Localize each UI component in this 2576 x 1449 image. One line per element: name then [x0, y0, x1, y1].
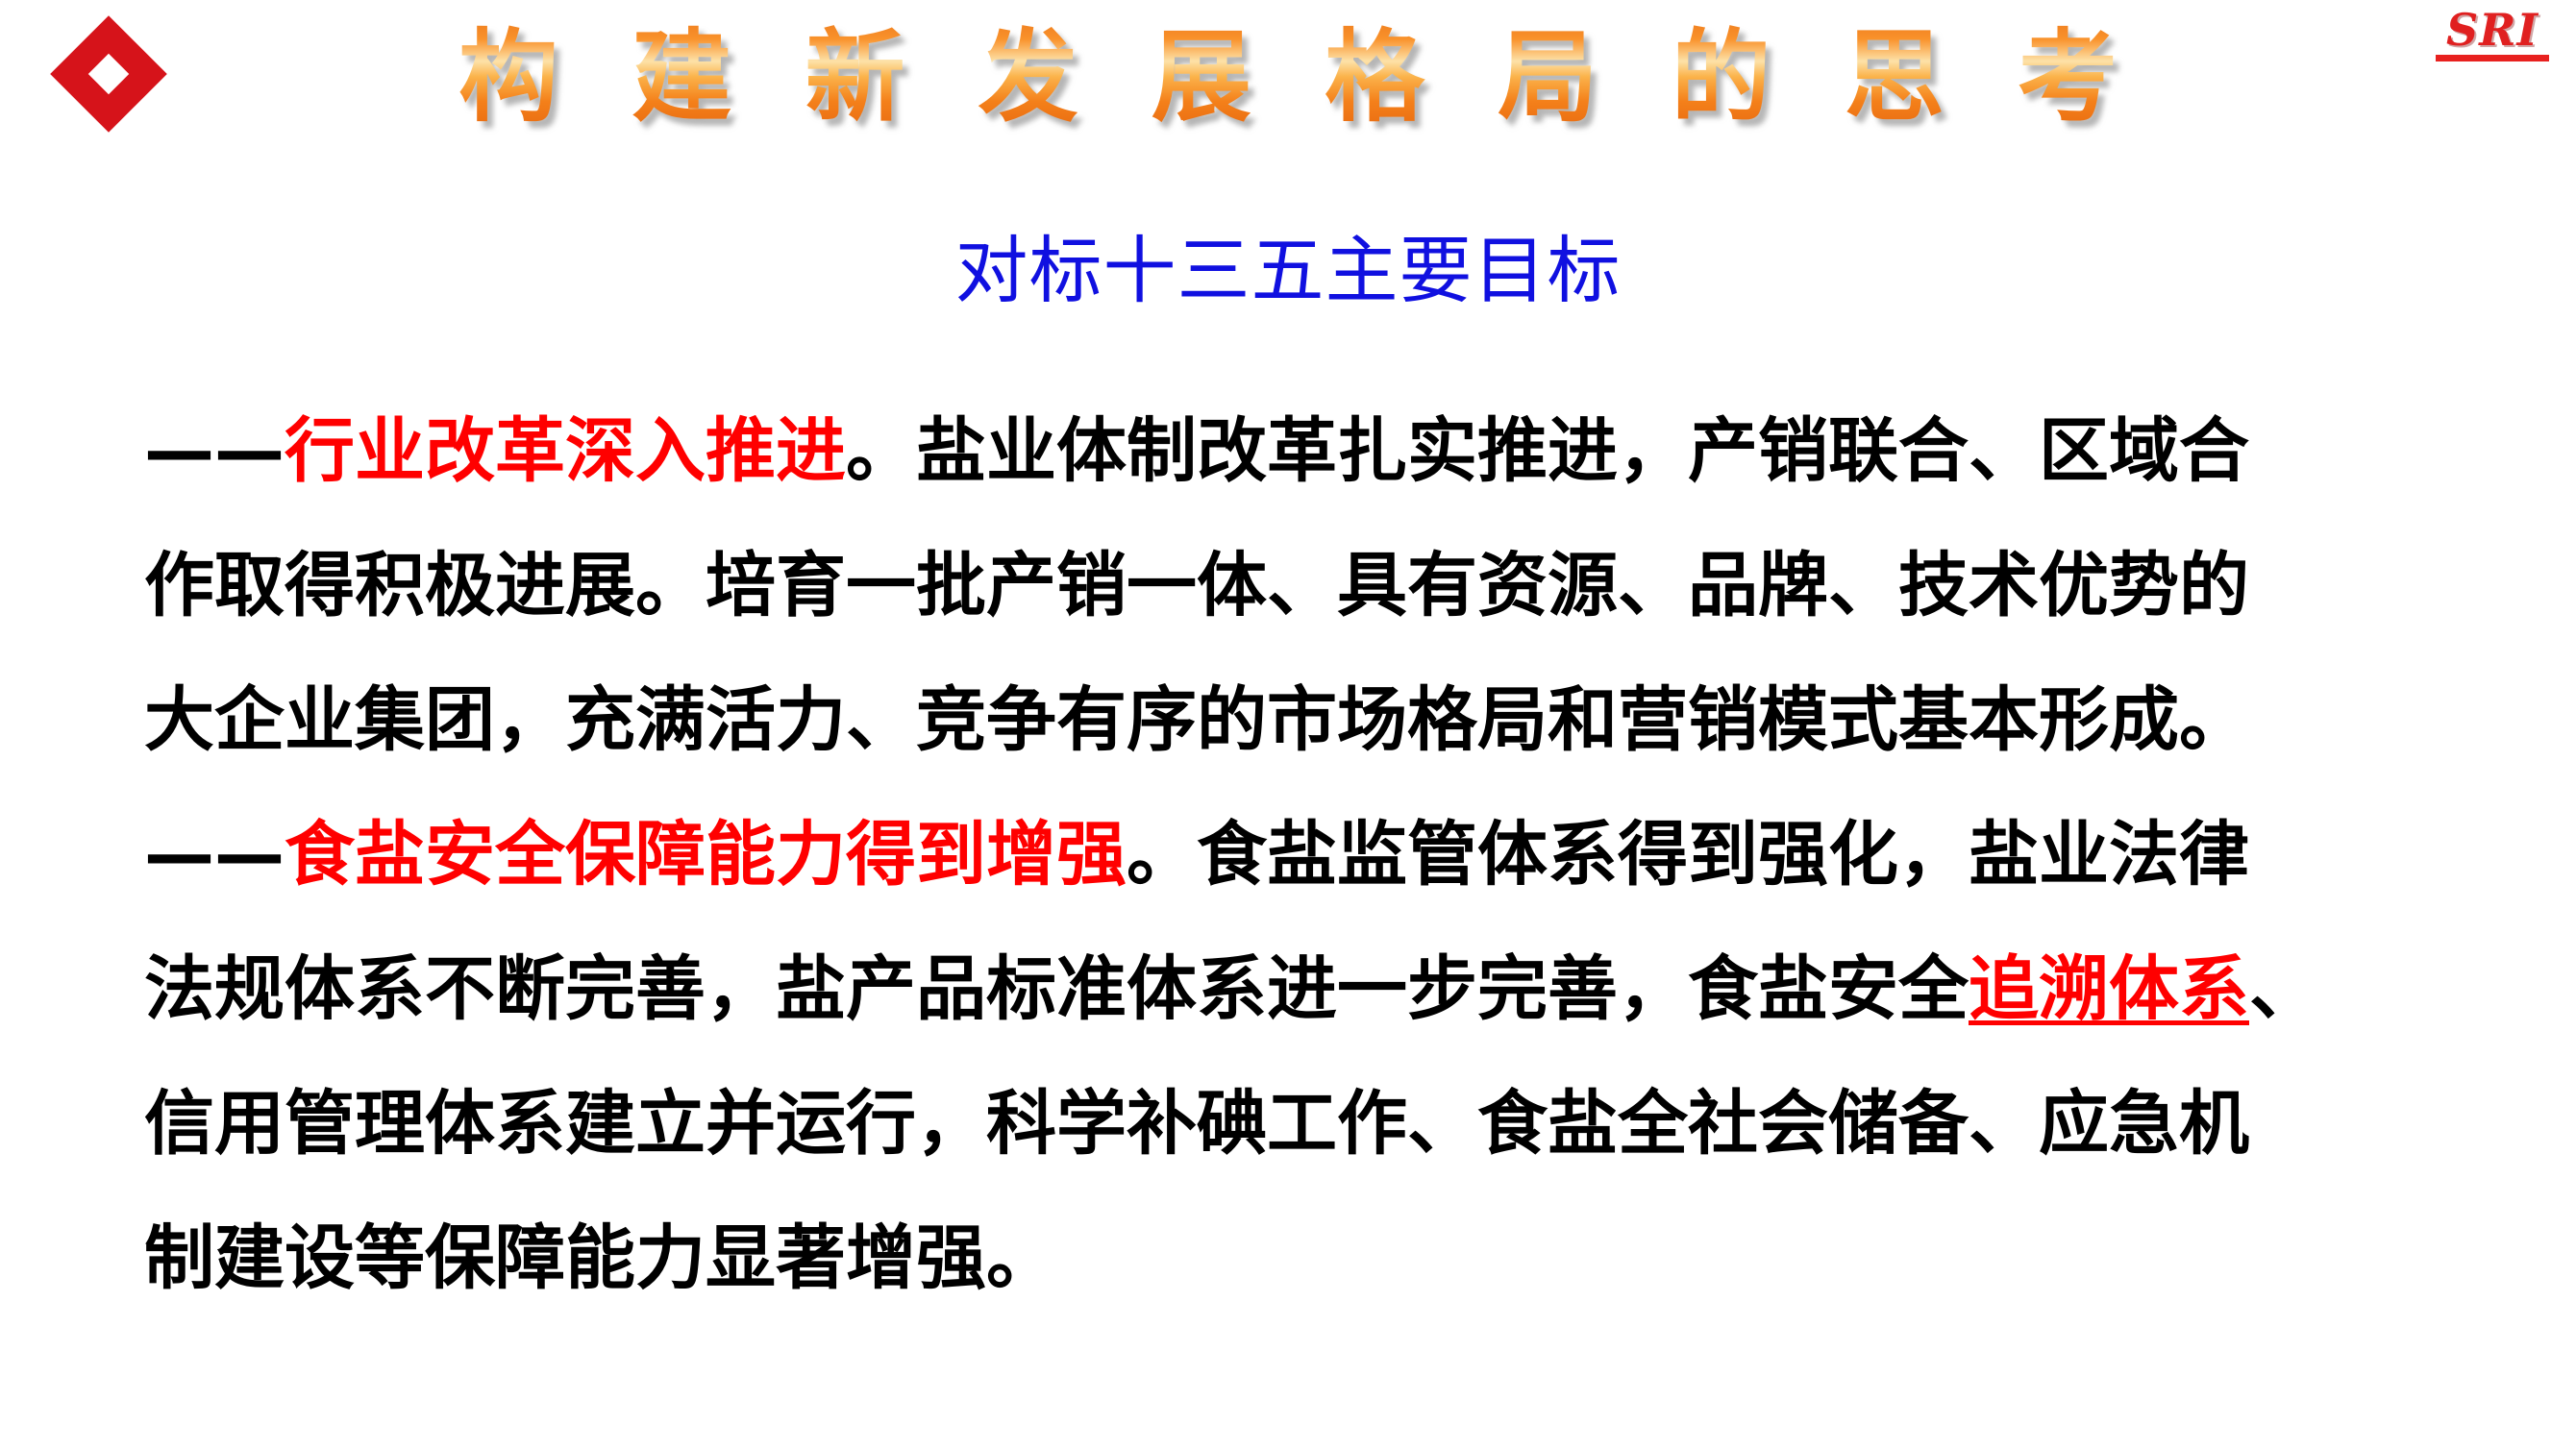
body-text: 信用管理体系建立并运行，科学补碘工作、食盐全社会储备、应急机 — [144, 1083, 2249, 1165]
highlight-text: 行业改革深入推进 — [285, 410, 846, 492]
body-text: 作取得积极进展。培育一批产销一体、具有资源、品牌、技术优势的 — [144, 545, 2249, 626]
slide-subtitle: 对标十三五主要目标 — [0, 231, 2576, 311]
body-text: 。盐业体制改革扎实推进，产销联合、区域合 — [846, 410, 2249, 492]
body-text: 法规体系不断完善，盐产品标准体系进一步完善，食盐安全 — [144, 948, 1969, 1030]
body-line: 作取得积极进展。培育一批产销一体、具有资源、品牌、技术优势的 — [144, 519, 2470, 653]
highlight-text: 食盐安全保障能力得到增强 — [285, 814, 1127, 896]
page-title: 构 建 新 发 展 格 局 的 思 考 — [0, 21, 2576, 133]
body-line: 信用管理体系建立并运行，科学补碘工作、食盐全社会储备、应急机 — [144, 1057, 2470, 1191]
body-text: 。食盐监管体系得到强化，盐业法律 — [1127, 814, 2249, 896]
body-text: 制建设等保障能力显著增强。 — [144, 1217, 1056, 1299]
body-content: ——行业改革深入推进。盐业体制改革扎实推进，产销联合、区域合 作取得积极进展。培… — [144, 384, 2470, 1326]
body-line: 法规体系不断完善，盐产品标准体系进一步完善，食盐安全追溯体系、 — [144, 922, 2470, 1057]
body-line: 大企业集团，充满活力、竞争有序的市场格局和营销模式基本形成。 — [144, 653, 2470, 788]
body-line: ——食盐安全保障能力得到增强。食盐监管体系得到强化，盐业法律 — [144, 788, 2470, 922]
body-line: 制建设等保障能力显著增强。 — [144, 1191, 2470, 1326]
body-text: 大企业集团，充满活力、竞争有序的市场格局和营销模式基本形成。 — [144, 679, 2249, 761]
body-line: ——行业改革深入推进。盐业体制改革扎实推进，产销联合、区域合 — [144, 384, 2470, 519]
body-text: 、 — [2249, 948, 2319, 1030]
em-dash: —— — [144, 410, 285, 492]
highlight-underlined-text: 追溯体系 — [1969, 948, 2249, 1030]
em-dash: —— — [144, 814, 285, 896]
